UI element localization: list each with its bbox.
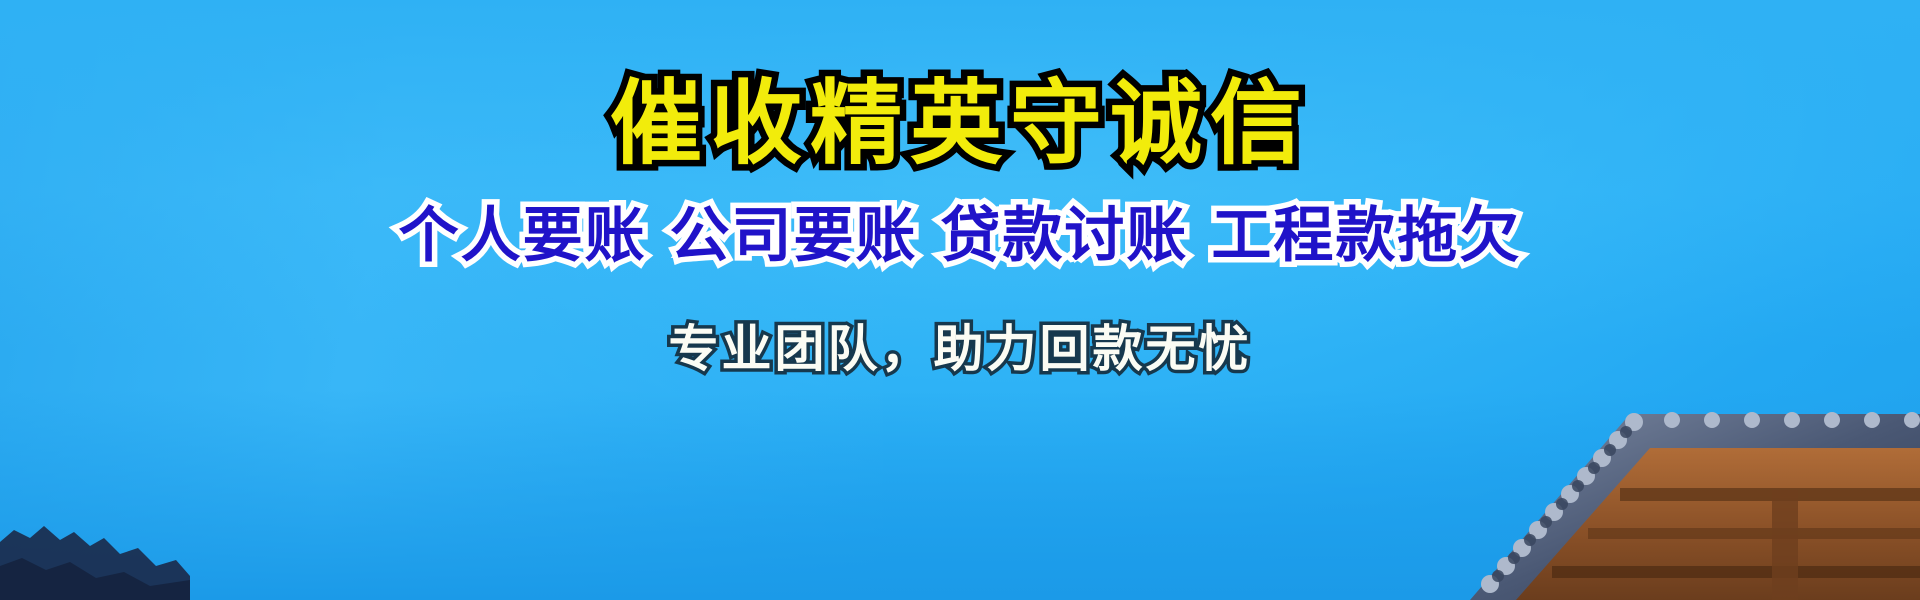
promo-banner: 催收精英守诚信 个人要账 公司要账 贷款讨账 工程款拖欠 专业团队，助力回款无忧 [0,0,1920,600]
banner-tagline: 专业团队，助力回款无忧 [669,324,1252,374]
banner-text-stack: 催收精英守诚信 个人要账 公司要账 贷款讨账 工程款拖欠 专业团队，助力回款无忧 [0,0,1920,600]
banner-headline: 催收精英守诚信 [610,78,1310,170]
banner-services-line: 个人要账 公司要账 贷款讨账 工程款拖欠 [399,206,1522,266]
